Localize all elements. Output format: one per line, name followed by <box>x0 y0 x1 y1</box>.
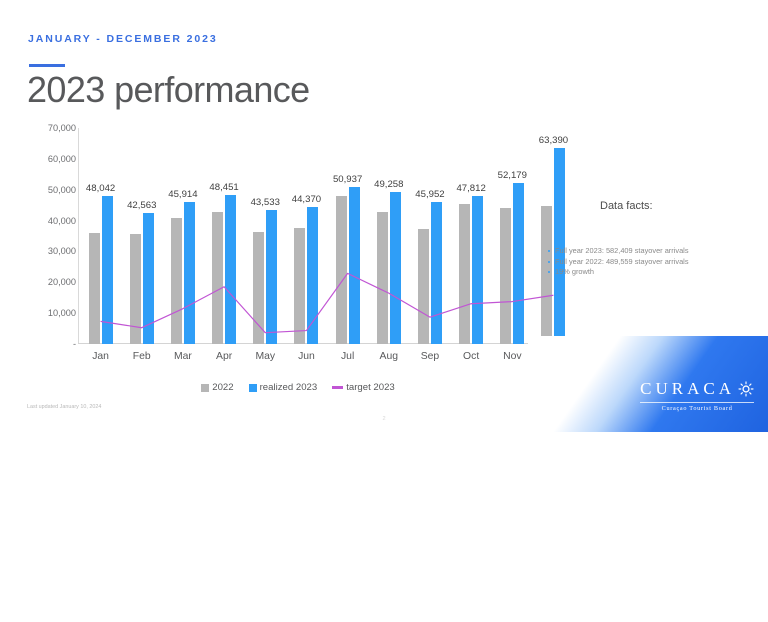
bullet-icon <box>548 250 550 252</box>
bar-value-label: 48,451 <box>209 182 238 193</box>
bar-realized-2023[interactable] <box>307 207 318 344</box>
slide: JANUARY - DECEMBER 2023 2023 performance… <box>0 0 768 432</box>
x-axis-tick: Feb <box>121 351 162 362</box>
plot-area: 48,04242,56345,91448,45143,53344,37050,9… <box>80 128 574 344</box>
bar-value-label: 45,914 <box>168 189 197 200</box>
x-axis-tick: Jul <box>327 351 368 362</box>
bar-2022[interactable] <box>253 232 264 344</box>
legend-label: target 2023 <box>346 382 395 393</box>
curacao-logo: CURACA Curaçao Tourist Board <box>640 379 754 412</box>
page-title: 2023 performance <box>27 70 310 110</box>
chart-column[interactable]: 48,042 <box>80 128 121 344</box>
legend-swatch <box>201 384 209 392</box>
y-axis-line <box>78 128 79 344</box>
legend-line-swatch <box>332 386 343 389</box>
chart-column[interactable]: 43,533 <box>245 128 286 344</box>
bar-2022[interactable] <box>89 233 100 344</box>
y-axis-tick: 40,000 <box>48 216 76 226</box>
data-fact-text: 19% growth <box>555 267 594 278</box>
legend-item[interactable]: 2022 <box>201 382 233 393</box>
chart-column[interactable]: 52,179 <box>492 128 533 344</box>
bar-realized-2023[interactable] <box>349 187 360 344</box>
bar-2022[interactable] <box>377 212 388 344</box>
data-facts-list: Full year 2023: 582,409 stayover arrival… <box>548 246 764 278</box>
chart-column[interactable]: 49,258 <box>368 128 409 344</box>
chart-column[interactable]: 48,451 <box>204 128 245 344</box>
bullet-icon <box>548 271 550 273</box>
y-axis-tick: - <box>73 339 76 349</box>
bar-2022[interactable] <box>294 228 305 344</box>
legend-item[interactable]: realized 2023 <box>249 382 318 393</box>
bullet-icon <box>548 261 550 263</box>
y-axis-tick: 20,000 <box>48 277 76 287</box>
y-axis-tick: 50,000 <box>48 185 76 195</box>
legend-label: realized 2023 <box>260 382 318 393</box>
x-axis-tick: Nov <box>492 351 533 362</box>
data-fact-text: Full year 2022: 489,559 stayover arrival… <box>555 257 689 268</box>
performance-chart: 70,00060,00050,00040,00030,00020,00010,0… <box>18 118 578 358</box>
last-updated-text: Last updated January 10, 2024 <box>27 404 101 410</box>
bar-value-label: 49,258 <box>374 179 403 190</box>
x-axis-tick: May <box>245 351 286 362</box>
data-fact-item: Full year 2023: 582,409 stayover arrival… <box>548 246 764 257</box>
chart-column[interactable]: 50,937 <box>327 128 368 344</box>
sun-icon <box>738 381 754 397</box>
x-axis-tick: Jun <box>286 351 327 362</box>
chart-legend: 2022realized 2023target 2023 <box>18 382 578 393</box>
bar-realized-2023[interactable] <box>431 202 442 344</box>
accent-rule <box>29 64 65 67</box>
bar-value-label: 43,533 <box>251 197 280 208</box>
bar-value-label: 44,370 <box>292 194 321 205</box>
x-axis-tick: Oct <box>451 351 492 362</box>
bar-realized-2023[interactable] <box>472 196 483 344</box>
y-axis-tick: 10,000 <box>48 308 76 318</box>
bar-2022[interactable] <box>418 229 429 344</box>
x-axis-tick: Aug <box>368 351 409 362</box>
bar-realized-2023[interactable] <box>184 202 195 344</box>
bar-value-label: 63,390 <box>539 135 568 146</box>
x-axis-labels: JanFebMarAprMayJunJulAugSepOctNovDec <box>80 351 574 362</box>
bar-realized-2023[interactable] <box>390 192 401 344</box>
bar-2022[interactable] <box>336 196 347 344</box>
legend-item[interactable]: target 2023 <box>332 382 395 393</box>
bar-columns: 48,04242,56345,91448,45143,53344,37050,9… <box>80 128 574 344</box>
logo-subtitle: Curaçao Tourist Board <box>640 402 754 412</box>
bar-realized-2023[interactable] <box>143 213 154 344</box>
x-axis-tick: Jan <box>80 351 121 362</box>
bar-value-label: 50,937 <box>333 174 362 185</box>
bar-2022[interactable] <box>459 204 470 344</box>
slide-eyebrow: JANUARY - DECEMBER 2023 <box>28 33 218 45</box>
chart-column[interactable]: 45,914 <box>162 128 203 344</box>
bar-2022[interactable] <box>500 208 511 344</box>
legend-label: 2022 <box>212 382 233 393</box>
data-fact-text: Full year 2023: 582,409 stayover arrival… <box>555 246 689 257</box>
bar-realized-2023[interactable] <box>225 195 236 345</box>
data-fact-item: 19% growth <box>548 267 764 278</box>
chart-column[interactable]: 47,812 <box>451 128 492 344</box>
bar-value-label: 48,042 <box>86 183 115 194</box>
data-fact-item: Full year 2022: 489,559 stayover arrival… <box>548 257 764 268</box>
bar-value-label: 47,812 <box>456 183 485 194</box>
bar-value-label: 45,952 <box>415 189 444 200</box>
chart-column[interactable]: 63,390 <box>533 128 574 344</box>
bar-value-label: 42,563 <box>127 200 156 211</box>
y-axis-tick: 30,000 <box>48 246 76 256</box>
bar-realized-2023[interactable] <box>102 196 113 344</box>
chart-column[interactable]: 45,952 <box>409 128 450 344</box>
legend-swatch <box>249 384 257 392</box>
bar-realized-2023[interactable] <box>266 210 277 344</box>
bar-value-label: 52,179 <box>498 170 527 181</box>
x-axis-tick: Sep <box>409 351 450 362</box>
x-axis-tick: Mar <box>162 351 203 362</box>
bar-2022[interactable] <box>171 218 182 344</box>
bar-realized-2023[interactable] <box>513 183 524 344</box>
y-axis-tick: 70,000 <box>48 123 76 133</box>
y-axis-tick: 60,000 <box>48 154 76 164</box>
logo-wordmark: CURACA <box>640 379 735 399</box>
bar-2022[interactable] <box>212 212 223 344</box>
brand-corner: CURACA Curaçao Tourist Board <box>528 336 768 432</box>
bar-2022[interactable] <box>130 234 141 344</box>
chart-column[interactable]: 42,563 <box>121 128 162 344</box>
data-facts-heading: Data facts: <box>600 200 653 212</box>
chart-column[interactable]: 44,370 <box>286 128 327 344</box>
y-axis-labels: 70,00060,00050,00040,00030,00020,00010,0… <box>18 128 76 344</box>
x-axis-tick: Apr <box>204 351 245 362</box>
